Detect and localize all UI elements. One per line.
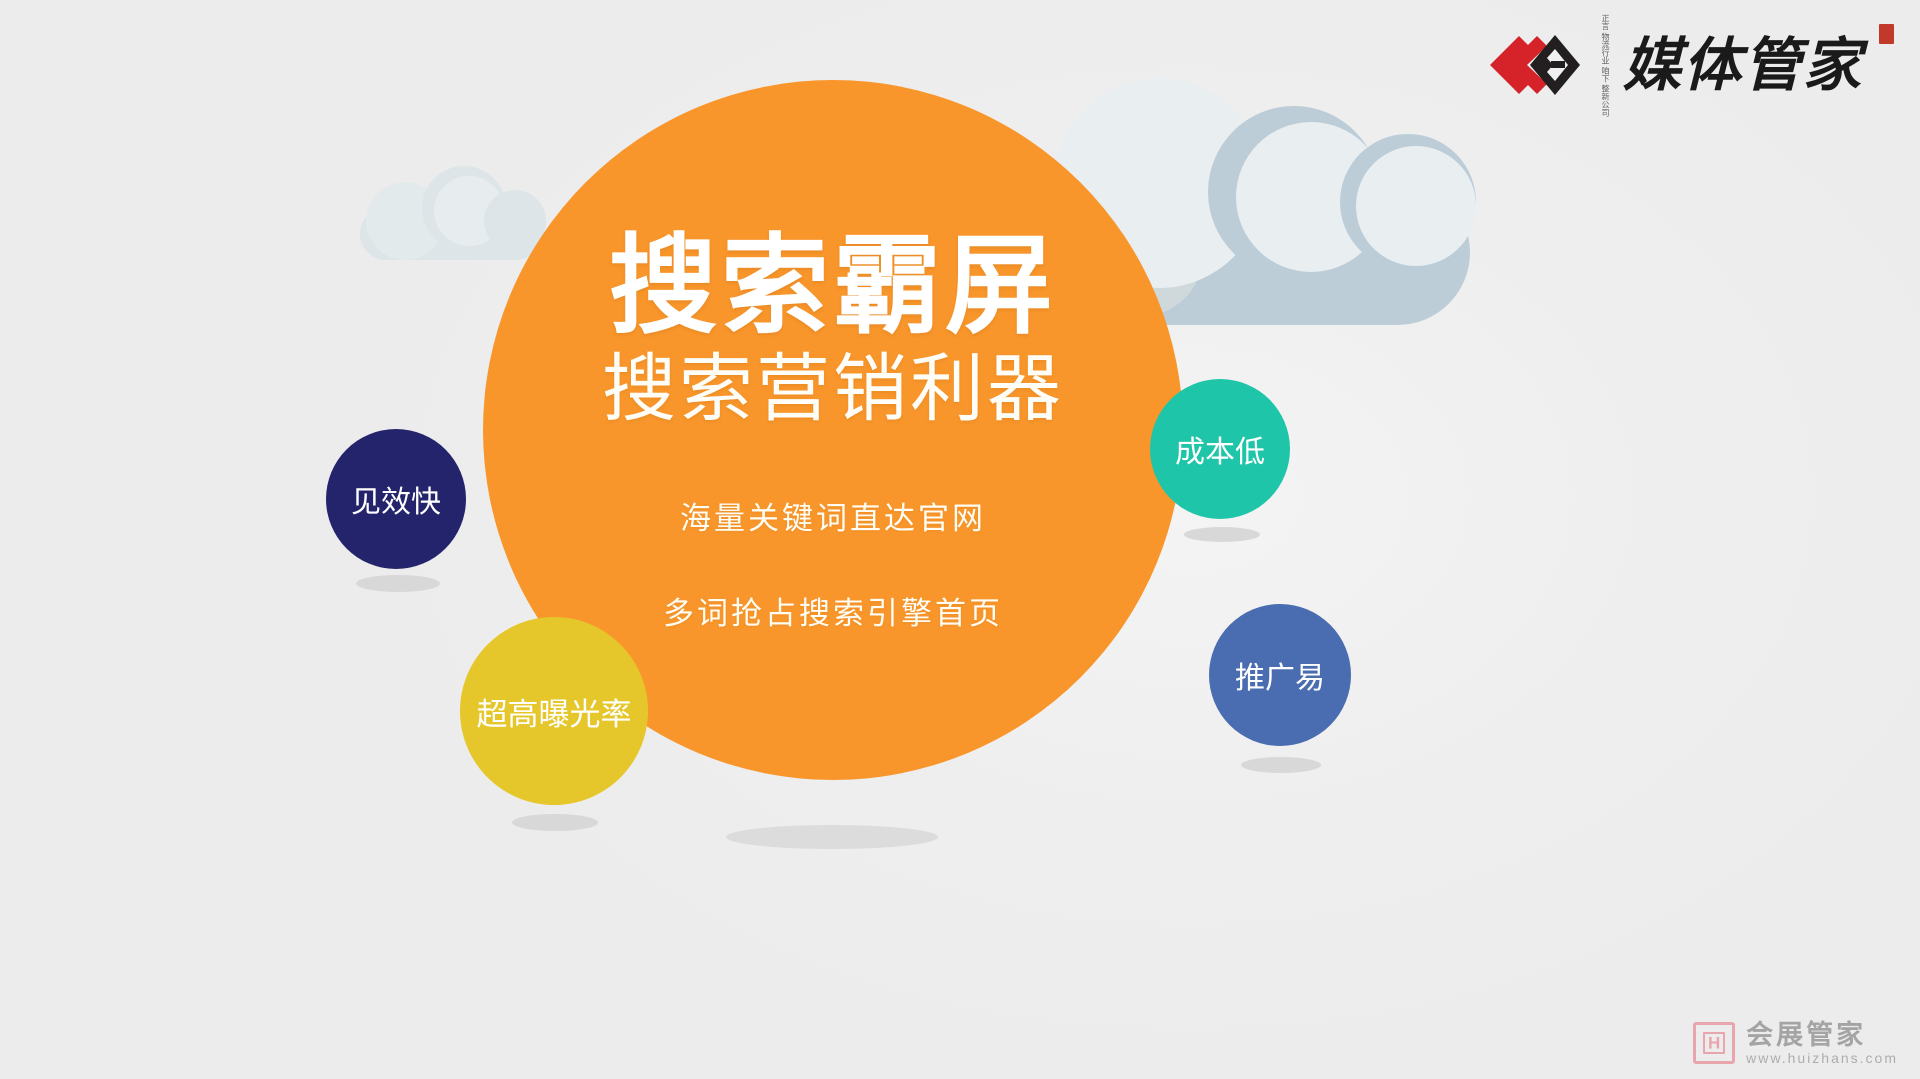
hero-description-line-1: 海量关键词直达官网: [680, 493, 986, 538]
feature-bubble-label: 推广易: [1235, 653, 1325, 697]
page-title: 搜索霸屏: [609, 230, 1057, 342]
watermark-title: 会展管家: [1746, 1021, 1898, 1049]
feature-bubble-chaogao[interactable]: 超高曝光率: [460, 617, 648, 805]
feature-bubble-jianxiaokuai[interactable]: 见效快: [326, 429, 466, 569]
hero-description-line-2: 多词抢占搜索引擎首页: [663, 588, 1003, 633]
bubble-shadow-jianxiaokuai: [356, 575, 440, 592]
hero-circle-shadow: [726, 825, 938, 849]
feature-bubble-chengbendi[interactable]: 成本低: [1150, 379, 1290, 519]
watermark-texts: 会展管家 www.huizhans.com: [1746, 1021, 1898, 1065]
page-subtitle: 搜索营销利器: [602, 348, 1064, 431]
feature-bubble-label: 成本低: [1175, 427, 1265, 471]
bubble-shadow-chengbendi: [1184, 527, 1260, 542]
cloud-right-puff-5: [1356, 146, 1476, 266]
slide-canvas: 搜索霸屏 搜索营销利器 海量关键词直达官网 多词抢占搜索引擎首页 见效快 成本低…: [0, 0, 1920, 1079]
bubble-shadow-tuiguangyi: [1241, 757, 1321, 773]
feature-bubble-tuiguangyi[interactable]: 推广易: [1209, 604, 1351, 746]
huizhans-logo-icon: [1693, 1022, 1735, 1064]
brand-logo[interactable]: 正言 物流行业 咱下 整新公司 媒体管家: [1489, 14, 1894, 117]
bubble-shadow-chaogao: [512, 814, 598, 831]
watermark-url: www.huizhans.com: [1746, 1051, 1898, 1065]
brand-sidenote: 正言 物流行业 咱下 整新公司: [1595, 14, 1609, 117]
feature-bubble-label: 超高曝光率: [477, 689, 632, 734]
red-seal-icon: [1879, 24, 1894, 44]
feature-bubble-label: 见效快: [351, 477, 441, 521]
chevron-diamond-logo-icon: [1489, 34, 1581, 96]
watermark[interactable]: 会展管家 www.huizhans.com: [1693, 1021, 1898, 1065]
brand-name: 媒体管家: [1623, 36, 1863, 94]
